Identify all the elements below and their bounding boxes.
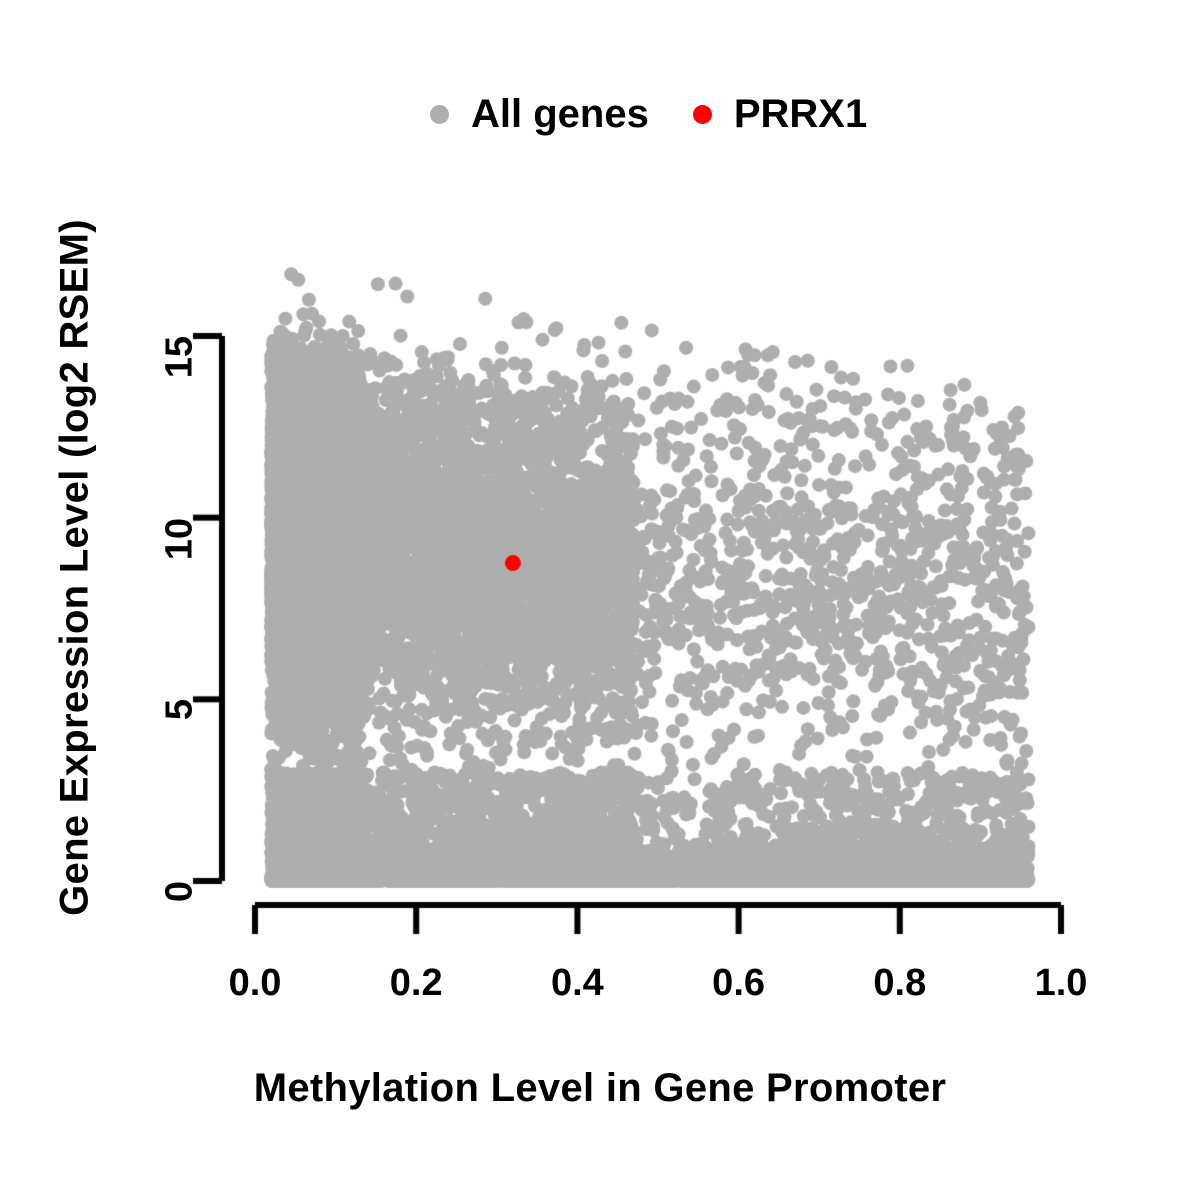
scatter-plot-canvas <box>0 0 1200 1200</box>
scatter-plot-figure: All genes PRRX1 Methylation Level in Gen… <box>0 0 1200 1200</box>
